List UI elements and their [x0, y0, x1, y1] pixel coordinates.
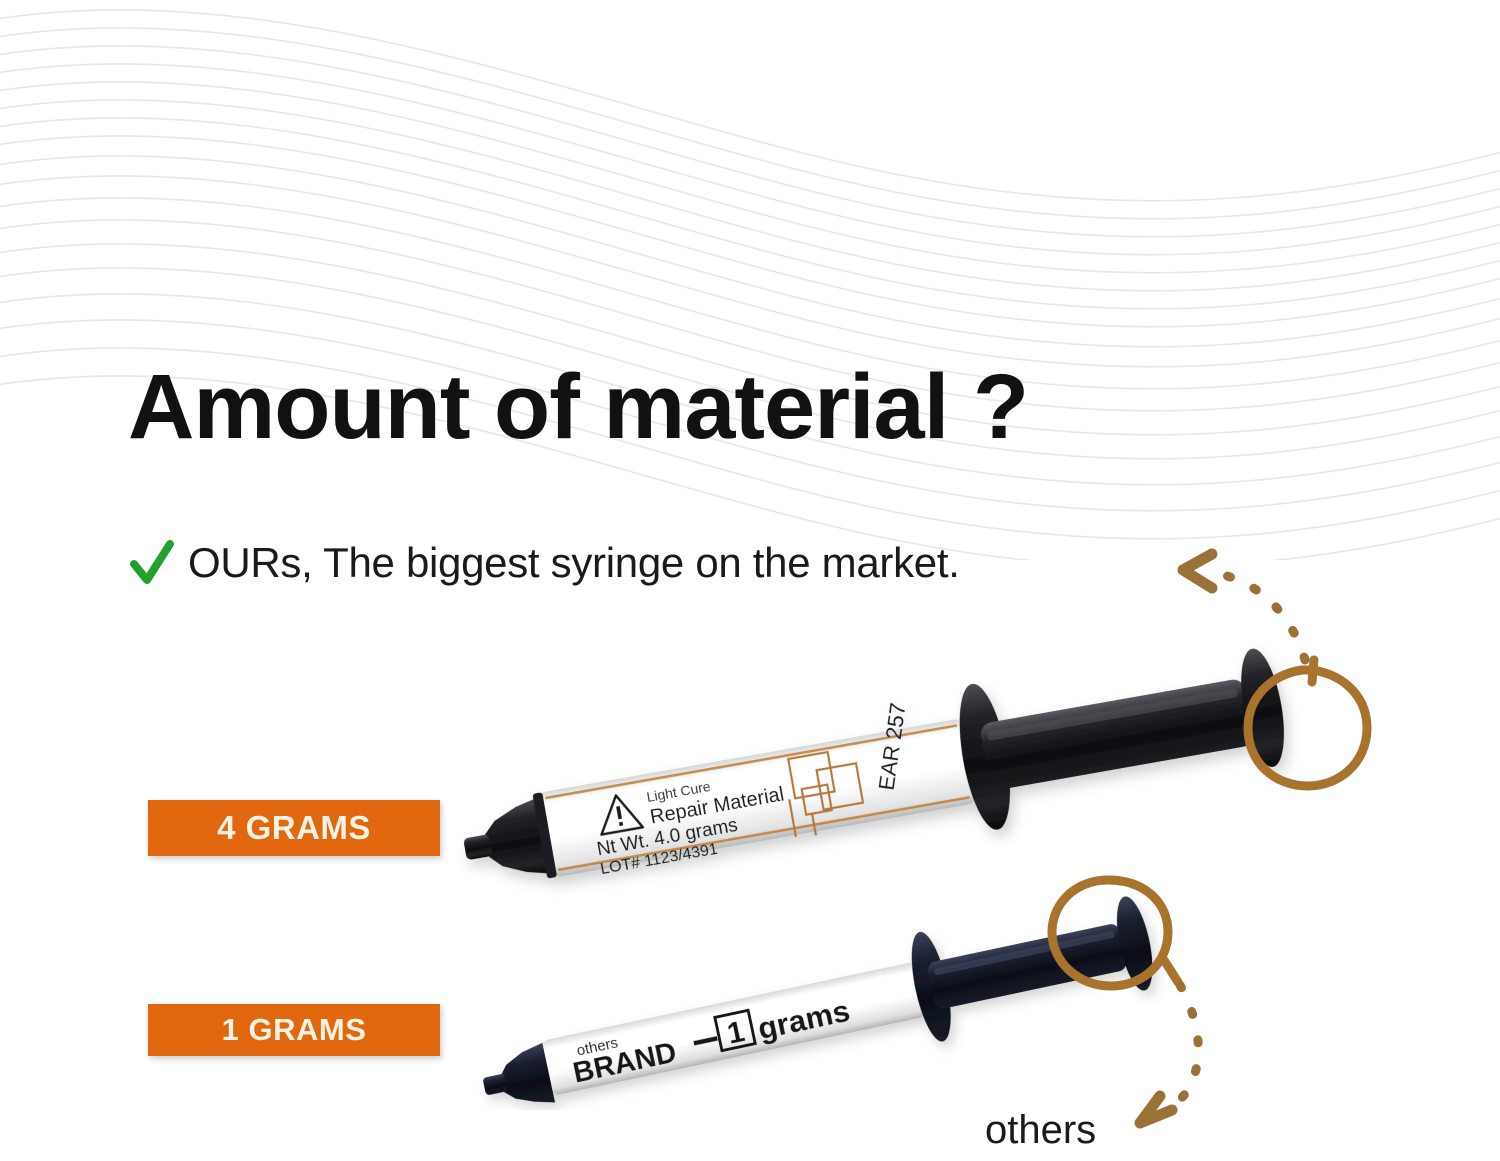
others-caption: others [985, 1108, 1096, 1153]
badge-label-1-gram: 1 GRAMS [222, 1012, 367, 1048]
green-check-icon [130, 538, 174, 588]
status-badge-4-grams: 4 GRAMS [148, 800, 440, 856]
infographic-canvas: Amount of material ? OURs, The biggest s… [0, 0, 1500, 1161]
product-syringe-competitor: others BRAND 1 grams [440, 860, 1240, 1110]
arrowhead-ours [1183, 554, 1212, 588]
page-title: Amount of material ? [128, 355, 1028, 460]
badge-label-4-grams: 4 GRAMS [217, 809, 371, 847]
wave-pattern-decoration [0, 0, 1500, 560]
subtitle-text: OURs, The biggest syringe on the market. [188, 539, 960, 587]
status-badge-1-gram: 1 GRAMS [148, 1004, 440, 1056]
subtitle-row: OURs, The biggest syringe on the market. [130, 538, 960, 588]
